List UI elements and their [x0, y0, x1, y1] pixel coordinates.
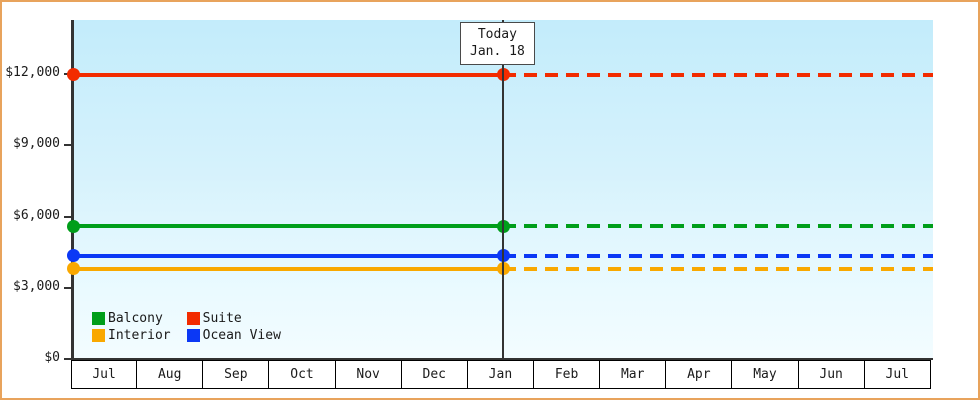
- y-axis-tick-label: $9,000: [13, 136, 60, 151]
- series-line-dashed: [503, 224, 933, 228]
- series-data-point[interactable]: [67, 68, 80, 81]
- x-axis-month-cell[interactable]: Dec: [402, 360, 468, 389]
- y-axis-tick-label: $0: [44, 350, 60, 365]
- x-axis-month-cell[interactable]: Jan: [468, 360, 534, 389]
- legend-item[interactable]: Ocean View: [187, 328, 281, 343]
- series-line-solid: [73, 267, 503, 271]
- y-axis-tick: [64, 287, 73, 289]
- legend-label: Ocean View: [203, 328, 281, 343]
- legend-swatch-icon: [187, 329, 200, 342]
- x-axis-month-cell[interactable]: Oct: [269, 360, 335, 389]
- y-axis-tick: [64, 216, 73, 218]
- x-axis-month-cell[interactable]: Apr: [666, 360, 732, 389]
- y-axis-tick-label: $3,000: [13, 279, 60, 294]
- series-data-point[interactable]: [67, 249, 80, 262]
- x-axis-month-cell[interactable]: Aug: [137, 360, 203, 389]
- series-line-dashed: [503, 267, 933, 271]
- series-line-dashed: [503, 73, 933, 77]
- series-data-point[interactable]: [67, 262, 80, 275]
- y-axis-tick-label: $12,000: [5, 65, 60, 80]
- x-axis-month-cell[interactable]: Nov: [336, 360, 402, 389]
- today-vertical-line: [502, 20, 504, 359]
- today-callout-line2: Jan. 18: [470, 43, 525, 60]
- legend-label: Interior: [108, 328, 171, 343]
- today-callout-line1: Today: [470, 26, 525, 43]
- x-axis-month-cell[interactable]: Feb: [534, 360, 600, 389]
- chart-legend: BalconySuiteInteriorOcean View: [92, 311, 281, 343]
- x-axis-month-cell[interactable]: Jul: [865, 360, 931, 389]
- legend-item[interactable]: Balcony: [92, 311, 171, 326]
- x-axis-month-labels: JulAugSepOctNovDecJanFebMarAprMayJunJul: [71, 360, 931, 389]
- y-axis-tick-label: $6,000: [13, 208, 60, 223]
- x-axis-month-cell[interactable]: Sep: [203, 360, 269, 389]
- chart-container: $12,000$9,000$6,000$3,000$0 Today Jan. 1…: [0, 0, 980, 400]
- legend-swatch-icon: [187, 312, 200, 325]
- today-callout: Today Jan. 18: [460, 22, 535, 65]
- series-line-solid: [73, 73, 503, 77]
- x-axis-month-cell[interactable]: May: [732, 360, 798, 389]
- legend-item[interactable]: Interior: [92, 328, 171, 343]
- legend-swatch-icon: [92, 329, 105, 342]
- legend-label: Suite: [203, 311, 242, 326]
- series-line-solid: [73, 224, 503, 228]
- y-axis-tick: [64, 144, 73, 146]
- series-line-dashed: [503, 254, 933, 258]
- legend-label: Balcony: [108, 311, 163, 326]
- series-data-point[interactable]: [67, 220, 80, 233]
- x-axis-month-cell[interactable]: Mar: [600, 360, 666, 389]
- x-axis-month-cell[interactable]: Jul: [71, 360, 137, 389]
- series-line-solid: [73, 254, 503, 258]
- legend-swatch-icon: [92, 312, 105, 325]
- legend-item[interactable]: Suite: [187, 311, 281, 326]
- x-axis-month-cell[interactable]: Jun: [799, 360, 865, 389]
